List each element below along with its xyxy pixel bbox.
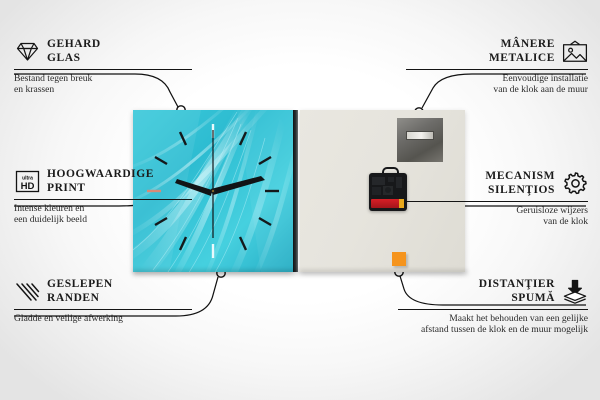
feature-divider [406, 69, 588, 70]
hanger-slot [406, 131, 434, 140]
feature-subtitle-line2: afstand tussen de klok en de muur mogeli… [398, 324, 588, 335]
svg-text:HD: HD [20, 181, 34, 192]
feature-divider [14, 309, 192, 310]
feature-subtitle-line2: van de klok [406, 216, 588, 227]
feature-title-line2: RANDEN [47, 292, 113, 306]
feature-divider [398, 309, 588, 310]
feature-title-line2: PRINT [47, 182, 154, 196]
feature-divider [14, 69, 192, 70]
feature-title-line1: GESLEPEN [47, 278, 113, 292]
feature-hoogwaardige-print: ultra HD HOOGWAARDIGE PRINT Intense kleu… [14, 168, 192, 226]
down-arrow-stack-icon [562, 280, 588, 304]
feature-subtitle-line1: Intense kleuren en [14, 203, 192, 214]
feature-subtitle-line2: en krassen [14, 84, 192, 95]
feature-title-line2: SILENŢIOS [485, 184, 555, 198]
feature-header: MECANISM SILENŢIOS [406, 170, 588, 197]
feature-subtitle-line1: Gladde en veilige afwerking [14, 313, 192, 324]
feature-title-line1: GEHARD [47, 38, 101, 52]
feature-header: GESLEPEN RANDEN [14, 278, 192, 305]
mechanism-detail [372, 177, 404, 196]
foam-spacer [392, 252, 406, 266]
diagonal-lines-icon [14, 280, 40, 304]
feature-header: MÂNERE METALICE [406, 38, 588, 65]
clock-glass-edge [293, 110, 298, 272]
feature-subtitle-line2: van de klok aan de muur [406, 84, 588, 95]
feature-subtitle-line1: Bestand tegen breuk [14, 73, 192, 84]
feature-title-line1: DISTANŢIER [479, 278, 555, 292]
feature-header: ultra HD HOOGWAARDIGE PRINT [14, 168, 192, 195]
feature-title-line2: GLAS [47, 52, 101, 66]
feature-distantier-spuma: DISTANŢIER SPUMĂ Maakt het behouden van … [398, 278, 588, 336]
feature-divider [14, 199, 192, 200]
feature-subtitle-line1: Geruisloze wijzers [406, 205, 588, 216]
feature-gehard-glas: GEHARD GLAS Bestand tegen breuk en krass… [14, 38, 192, 96]
feature-title-line2: SPUMĂ [479, 292, 555, 306]
battery-positive-tip [399, 199, 404, 208]
feature-subtitle-line1: Maakt het behouden van een gelijke [398, 313, 588, 324]
metal-hanger-plate-icon [397, 118, 443, 162]
back-panel-drop-shadow [300, 270, 468, 277]
feature-header: GEHARD GLAS [14, 38, 192, 65]
clock-drop-shadow [133, 270, 299, 277]
diamond-icon [14, 40, 40, 64]
feature-geslepen-randen: GESLEPEN RANDEN Gladde en veilige afwerk… [14, 278, 192, 324]
feature-title-line1: HOOGWAARDIGE [47, 168, 154, 182]
gear-icon [562, 172, 588, 196]
feature-subtitle-line1: Eenvoudige installatie [406, 73, 588, 84]
feature-header: DISTANŢIER SPUMĂ [398, 278, 588, 305]
infographic-canvas: GEHARD GLAS Bestand tegen breuk en krass… [0, 0, 600, 400]
feature-title-line1: MÂNERE [489, 38, 555, 52]
picture-frame-hanger-icon [562, 40, 588, 64]
feature-mecanism-silentios: MECANISM SILENŢIOS Geruisloze wijzers va… [406, 170, 588, 228]
feature-title-line2: METALICE [489, 52, 555, 66]
feature-divider [406, 201, 588, 202]
feature-subtitle-line2: een duidelijk beeld [14, 214, 192, 225]
feature-title-line1: MECANISM [485, 170, 555, 184]
feature-manere-metalice: MÂNERE METALICE Eenvoudige installatie v… [406, 38, 588, 96]
ultra-hd-icon: ultra HD [14, 170, 40, 194]
